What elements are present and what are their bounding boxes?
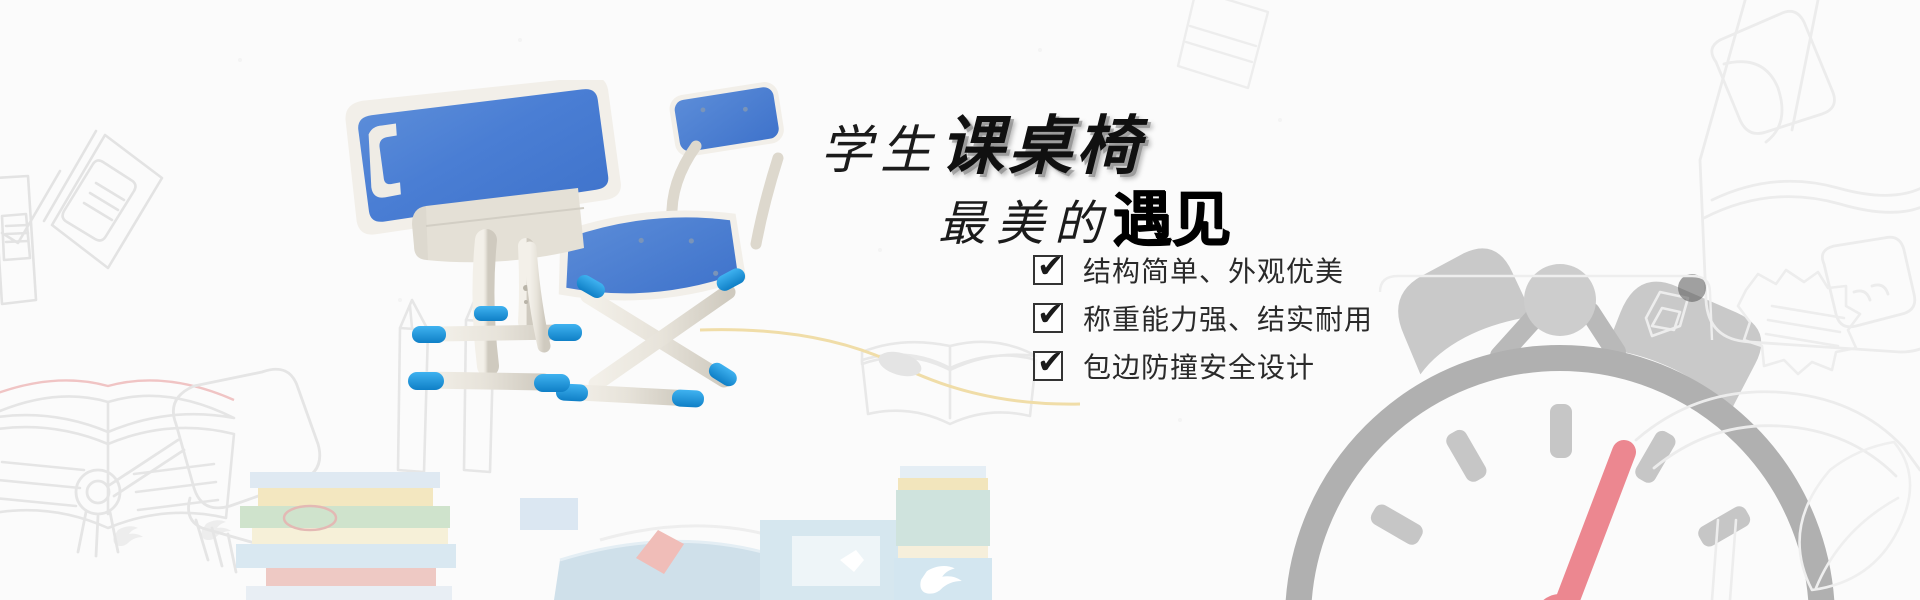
clock-ring <box>1298 358 1822 600</box>
lineart-open-book-left <box>0 396 234 546</box>
feature-label-2: 称重能力强、结实耐用 <box>1083 298 1373 338</box>
feature-item-3: ✔ 包边防撞安全设计 <box>1033 344 1373 388</box>
feature-label-3: 包边防撞安全设计 <box>1083 346 1315 386</box>
lineart-book-red-edge <box>0 380 234 400</box>
background-lineart-layer <box>0 0 1920 600</box>
feature-list: ✔ 结构简单、外观优美 ✔ 称重能力强、结实耐用 ✔ 包边防撞安全设计 <box>1033 248 1373 392</box>
check-glyph: ✔ <box>1037 298 1064 330</box>
feature-item-1: ✔ 结构简单、外观优美 <box>1033 248 1373 292</box>
clock-ticks <box>1344 404 1776 600</box>
feature-item-2: ✔ 称重能力强、结实耐用 <box>1033 296 1373 340</box>
background-decoration-svg <box>0 0 1920 600</box>
desk <box>344 80 623 392</box>
headline-line2-regular: 最美的 <box>938 196 1112 252</box>
headline-line-2: 最美的遇见 <box>938 171 1230 258</box>
checkbox-checked-icon: ✔ <box>1033 351 1063 381</box>
checkbox-checked-icon: ✔ <box>1033 303 1063 333</box>
lineart-notebooks-topleft <box>0 131 162 304</box>
lineart-notebook-colored-right <box>894 466 992 600</box>
headline-line2-emphasis: 遇见 <box>1112 185 1230 255</box>
product-photo-desk-and-chair <box>330 80 800 450</box>
promo-banner: 学生课桌椅 最美的遇见 ✔ 结构简单、外观优美 ✔ 称重能力强、结实耐用 ✔ 包… <box>0 0 1920 600</box>
lineart-pen-body <box>876 347 924 380</box>
headline-line1-regular: 学生 <box>820 121 940 181</box>
lineart-backpack <box>1636 0 1920 476</box>
clock-hands <box>1478 452 1624 600</box>
check-glyph: ✔ <box>1037 346 1064 378</box>
feature-label-1: 结构简单、外观优美 <box>1083 250 1344 290</box>
headline-block: 学生课桌椅 最美的遇见 <box>820 95 1280 245</box>
lineart-book-stack-bottom <box>236 472 456 600</box>
checkbox-checked-icon: ✔ <box>1033 255 1063 285</box>
lineart-paper-topcenter <box>1178 0 1268 88</box>
desk-and-chair-illustration <box>330 80 800 450</box>
lineart-book-stack-bottom-center <box>520 498 910 600</box>
check-glyph: ✔ <box>1037 250 1064 282</box>
